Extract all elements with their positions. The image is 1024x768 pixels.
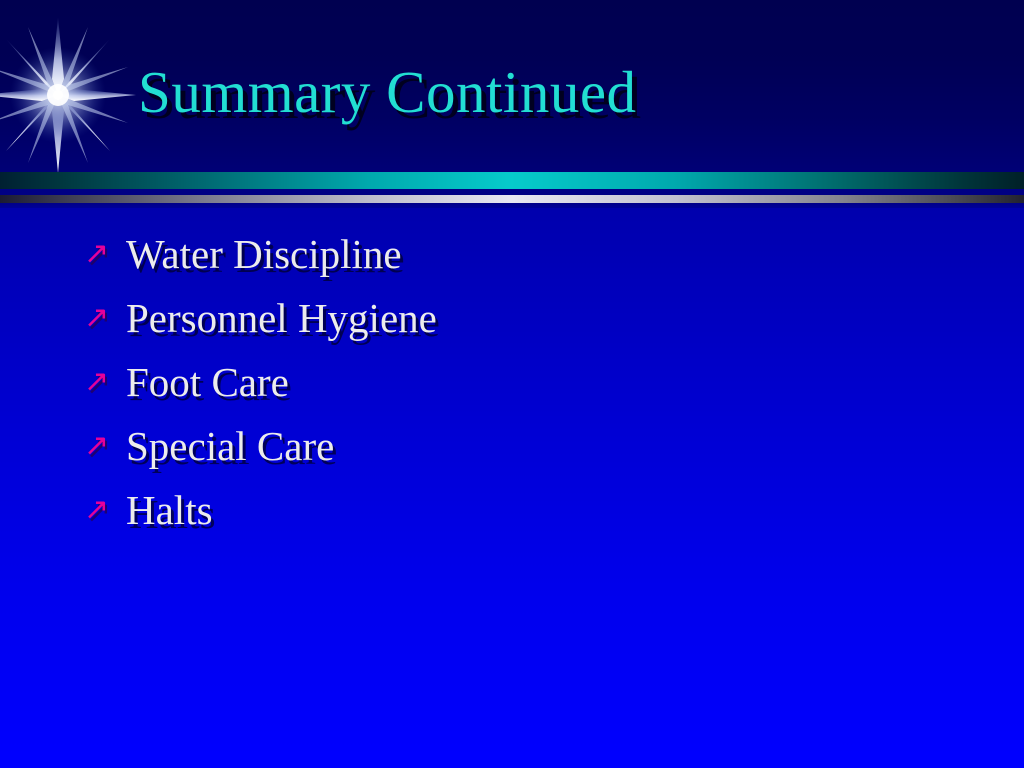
accent-divider-bar	[0, 172, 1024, 189]
list-item-label: Halts	[126, 486, 213, 534]
list-item: ↗ Halts	[84, 486, 964, 550]
arrow-northeast-icon: ↗	[84, 422, 126, 470]
secondary-divider-bar	[0, 195, 1024, 203]
list-item-label: Water Discipline	[126, 230, 402, 278]
divider-underline	[0, 203, 1024, 208]
list-item: ↗ Foot Care	[84, 358, 964, 422]
list-item: ↗ Special Care	[84, 422, 964, 486]
list-item-label: Personnel Hygiene	[126, 294, 437, 342]
arrow-northeast-icon: ↗	[84, 230, 126, 278]
list-item: ↗ Personnel Hygiene	[84, 294, 964, 358]
list-item-label: Special Care	[126, 422, 334, 470]
arrow-northeast-icon: ↗	[84, 486, 126, 534]
arrow-northeast-icon: ↗	[84, 358, 126, 406]
list-item: ↗ Water Discipline	[84, 230, 964, 294]
slide-canvas: Summary Continued ↗ Water Discipline ↗ P…	[0, 0, 1024, 768]
bullet-list: ↗ Water Discipline ↗ Personnel Hygiene ↗…	[84, 230, 964, 550]
slide-title: Summary Continued	[138, 62, 958, 124]
arrow-northeast-icon: ↗	[84, 294, 126, 342]
list-item-label: Foot Care	[126, 358, 289, 406]
